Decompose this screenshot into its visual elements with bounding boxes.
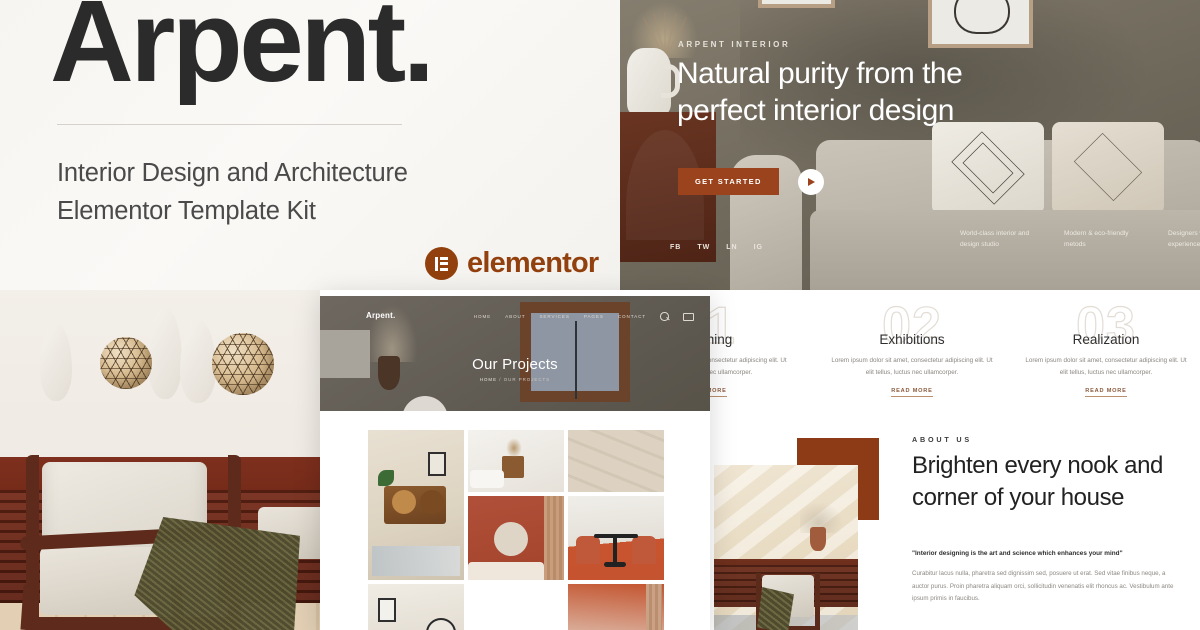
hero-feature-2: Modern & eco-friendly metods bbox=[1064, 228, 1138, 251]
elementor-logo: elementor bbox=[425, 247, 598, 280]
read-more-link[interactable]: READ MORE bbox=[891, 388, 932, 397]
promo-canvas: Arpent. Interior Design and Architecture… bbox=[0, 0, 1200, 630]
process-item-realization: 03 Realization Lorem ipsum dolor sit ame… bbox=[1008, 298, 1200, 397]
mockup-brand-logo[interactable]: Arpent. bbox=[366, 311, 395, 320]
social-link-ln[interactable]: LN bbox=[726, 244, 737, 251]
wall-art-frame-large bbox=[928, 0, 1033, 48]
hero-social-links: FB TW LN IG bbox=[670, 244, 763, 251]
search-icon[interactable] bbox=[660, 312, 669, 321]
process-title: Exhibitions bbox=[814, 332, 1010, 347]
about-quote: "Interior designing is the art and scien… bbox=[912, 550, 1182, 557]
chair-interior-photo bbox=[0, 285, 330, 630]
breadcrumb-current: OUR PROJECTS bbox=[504, 377, 550, 382]
project-tile-terracotta-wall[interactable] bbox=[468, 496, 564, 580]
terracotta-vase bbox=[810, 527, 826, 551]
page-title: Arpent. bbox=[50, 0, 432, 106]
project-tile-bedroom[interactable] bbox=[468, 430, 564, 492]
about-heading: Brighten every nook and corner of your h… bbox=[912, 450, 1200, 514]
hero-feature-1: World-class interior and design studio bbox=[960, 228, 1034, 251]
hero-eyebrow: ARPENT INTERIOR bbox=[678, 40, 790, 49]
breadcrumb: HOME / OUR PROJECTS bbox=[320, 377, 710, 382]
process-item-exhibitions: 02 Exhibitions Lorem ipsum dolor sit ame… bbox=[814, 298, 1010, 397]
nav-item-services[interactable]: SERVICES bbox=[539, 314, 569, 319]
project-tile-dining[interactable] bbox=[568, 496, 664, 580]
about-body-text: Curabitur lacus nulla, pharetra sed dign… bbox=[912, 568, 1184, 606]
hero-feature-3: Designers with years experience bbox=[1168, 228, 1200, 251]
title-panel: Arpent. Interior Design and Architecture… bbox=[0, 0, 620, 290]
ceramic-pitcher bbox=[627, 48, 671, 116]
nav-item-about[interactable]: ABOUT bbox=[505, 314, 525, 319]
social-link-tw[interactable]: TW bbox=[697, 244, 710, 251]
about-interior-photo bbox=[714, 465, 858, 630]
hero-cta-row: GET STARTED bbox=[678, 168, 824, 195]
project-tile-sideboard[interactable] bbox=[368, 430, 464, 580]
mockup-page-title: Our Projects bbox=[320, 356, 710, 373]
abstract-line-art-icon bbox=[954, 0, 1010, 34]
social-link-ig[interactable]: IG bbox=[754, 244, 763, 251]
projects-grid bbox=[368, 430, 668, 630]
decor-sphere-left bbox=[100, 337, 152, 389]
about-section: ABOUT US Brighten every nook and corner … bbox=[700, 420, 1200, 630]
title-divider bbox=[57, 124, 402, 125]
breadcrumb-separator: / bbox=[499, 377, 501, 382]
wall-art-frame-small bbox=[758, 0, 835, 8]
project-tile-workspace[interactable] bbox=[368, 584, 464, 630]
mockup-hero: Arpent. HOME ABOUT SERVICES PAGES CONTAC… bbox=[320, 296, 710, 411]
tagline-line-2: Elementor Template Kit bbox=[57, 193, 487, 231]
hero-feature-list: World-class interior and design studio M… bbox=[960, 228, 1200, 251]
nav-item-home[interactable]: HOME bbox=[474, 314, 491, 319]
hero-screenshot: ARPENT INTERIOR Natural purity from the … bbox=[620, 0, 1200, 290]
get-started-button[interactable]: GET STARTED bbox=[678, 168, 779, 195]
patterned-pillow-1 bbox=[932, 122, 1044, 214]
breadcrumb-home[interactable]: HOME bbox=[480, 377, 497, 382]
mockup-pampas bbox=[364, 300, 420, 362]
mockup-nav: HOME ABOUT SERVICES PAGES CONTACT bbox=[474, 312, 694, 321]
decor-sphere-right bbox=[212, 333, 274, 395]
play-video-button[interactable] bbox=[798, 169, 824, 195]
process-description: Lorem ipsum dolor sit amet, consectetur … bbox=[1008, 355, 1200, 378]
social-link-fb[interactable]: FB bbox=[670, 244, 681, 251]
play-icon bbox=[808, 178, 815, 186]
product-tagline: Interior Design and Architecture Element… bbox=[57, 155, 487, 230]
process-description: Lorem ipsum dolor sit amet, consectetur … bbox=[814, 355, 1010, 378]
projects-page-mockup: Arpent. HOME ABOUT SERVICES PAGES CONTAC… bbox=[320, 290, 710, 630]
tagline-line-1: Interior Design and Architecture bbox=[57, 155, 487, 193]
process-title: Realization bbox=[1008, 332, 1200, 347]
elementor-mark-icon bbox=[425, 247, 458, 280]
project-tile-bed-terracotta[interactable] bbox=[568, 584, 664, 630]
about-eyebrow: ABOUT US bbox=[912, 435, 972, 444]
project-tile-wood-panel[interactable] bbox=[568, 430, 664, 492]
nav-item-contact[interactable]: CONTACT bbox=[618, 314, 646, 319]
patterned-pillow-2 bbox=[1052, 122, 1164, 214]
hero-heading: Natural purity from the perfect interior… bbox=[677, 55, 1007, 129]
read-more-link[interactable]: READ MORE bbox=[1085, 388, 1126, 397]
elementor-wordmark: elementor bbox=[467, 247, 598, 280]
nav-item-pages[interactable]: PAGES bbox=[584, 314, 604, 319]
cart-icon[interactable] bbox=[683, 313, 694, 321]
